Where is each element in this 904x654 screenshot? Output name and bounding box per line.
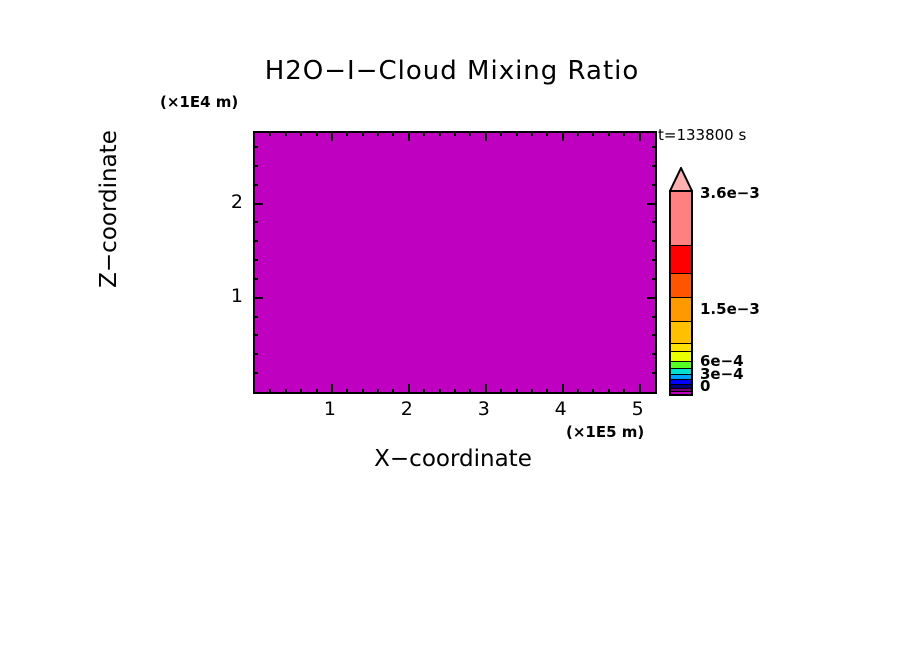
y-tick: [253, 203, 263, 205]
y-tick: [253, 165, 258, 167]
x-tick: [592, 131, 594, 136]
x-tick: [469, 131, 471, 136]
y-tick: [253, 372, 258, 374]
x-tick: [608, 389, 610, 394]
y-axis-title: Z−coordinate: [96, 79, 122, 339]
x-axis-unit-label: (×1E5 m): [566, 423, 644, 441]
y-tick: [253, 259, 258, 261]
y-tick: [652, 278, 657, 280]
x-tick: [377, 131, 379, 136]
x-tick: [623, 389, 625, 394]
x-tick: [346, 389, 348, 394]
x-tick: [269, 389, 271, 394]
y-tick: [652, 146, 657, 148]
x-axis-title: X−coordinate: [253, 446, 653, 472]
x-tick: [562, 131, 564, 141]
y-tick: [253, 240, 258, 242]
colorbar: [669, 190, 693, 396]
x-tick: [300, 389, 302, 394]
y-axis-unit-label: (×1E4 m): [160, 93, 238, 111]
x-tick: [577, 389, 579, 394]
x-tick: [562, 384, 564, 394]
x-tick: [392, 131, 394, 136]
x-tick: [269, 131, 271, 136]
contour-field-canvas: [255, 133, 655, 392]
x-tick: [592, 389, 594, 394]
y-tick: [652, 334, 657, 336]
y-tick: [652, 259, 657, 261]
x-tick: [500, 389, 502, 394]
y-tick: [652, 221, 657, 223]
x-tick: [423, 389, 425, 394]
y-tick-label: 1: [213, 285, 243, 307]
y-tick: [647, 297, 657, 299]
y-tick: [647, 203, 657, 205]
x-tick: [316, 131, 318, 136]
y-tick: [652, 165, 657, 167]
y-tick: [253, 221, 258, 223]
x-tick: [639, 384, 641, 394]
y-tick: [652, 184, 657, 186]
colorbar-band: [671, 274, 691, 298]
colorbar-label: 3.6e−3: [700, 184, 760, 202]
x-tick: [639, 131, 641, 141]
colorbar-label: 0: [700, 377, 710, 395]
y-tick: [253, 146, 258, 148]
x-tick: [439, 389, 441, 394]
x-tick: [316, 389, 318, 394]
y-tick: [652, 240, 657, 242]
x-tick-label: 2: [401, 398, 413, 420]
time-stamp-annotation: t=133800 s: [658, 126, 746, 144]
y-tick: [652, 372, 657, 374]
y-tick: [253, 297, 263, 299]
x-tick: [485, 131, 487, 141]
x-tick: [516, 389, 518, 394]
y-tick: [253, 316, 258, 318]
colorbar-label: 1.5e−3: [700, 300, 760, 318]
x-tick: [331, 384, 333, 394]
x-tick: [285, 131, 287, 136]
plot-area: [253, 131, 657, 394]
y-tick: [253, 184, 258, 186]
x-tick: [331, 131, 333, 141]
x-tick-label: 5: [632, 398, 644, 420]
x-tick: [423, 131, 425, 136]
x-tick: [439, 131, 441, 136]
x-tick: [362, 389, 364, 394]
colorbar-arrow-icon: [669, 167, 693, 192]
x-tick: [346, 131, 348, 136]
x-tick: [577, 131, 579, 136]
x-tick: [531, 131, 533, 136]
x-tick: [531, 389, 533, 394]
colorbar-band: [671, 246, 691, 274]
y-tick: [253, 353, 258, 355]
x-tick: [392, 389, 394, 394]
x-tick: [362, 131, 364, 136]
y-tick: [652, 316, 657, 318]
colorbar-band: [671, 298, 691, 322]
x-tick: [285, 389, 287, 394]
x-tick: [454, 389, 456, 394]
x-tick: [485, 384, 487, 394]
colorbar-band: [671, 322, 691, 344]
x-tick: [546, 131, 548, 136]
x-tick: [408, 131, 410, 141]
x-tick: [454, 131, 456, 136]
x-tick: [608, 131, 610, 136]
x-tick: [623, 131, 625, 136]
x-tick-label: 3: [478, 398, 490, 420]
x-tick: [300, 131, 302, 136]
x-tick-label: 4: [555, 398, 567, 420]
y-tick: [253, 334, 258, 336]
y-tick-label: 2: [213, 191, 243, 213]
x-tick: [500, 131, 502, 136]
x-tick: [516, 131, 518, 136]
x-tick: [408, 384, 410, 394]
x-tick: [377, 389, 379, 394]
y-tick: [253, 278, 258, 280]
colorbar-band: [671, 392, 691, 394]
x-tick: [469, 389, 471, 394]
colorbar-band: [671, 192, 691, 246]
page-title: H2O−I−Cloud Mixing Ratio: [0, 56, 904, 86]
x-tick: [546, 389, 548, 394]
y-tick: [652, 353, 657, 355]
x-tick-label: 1: [324, 398, 336, 420]
